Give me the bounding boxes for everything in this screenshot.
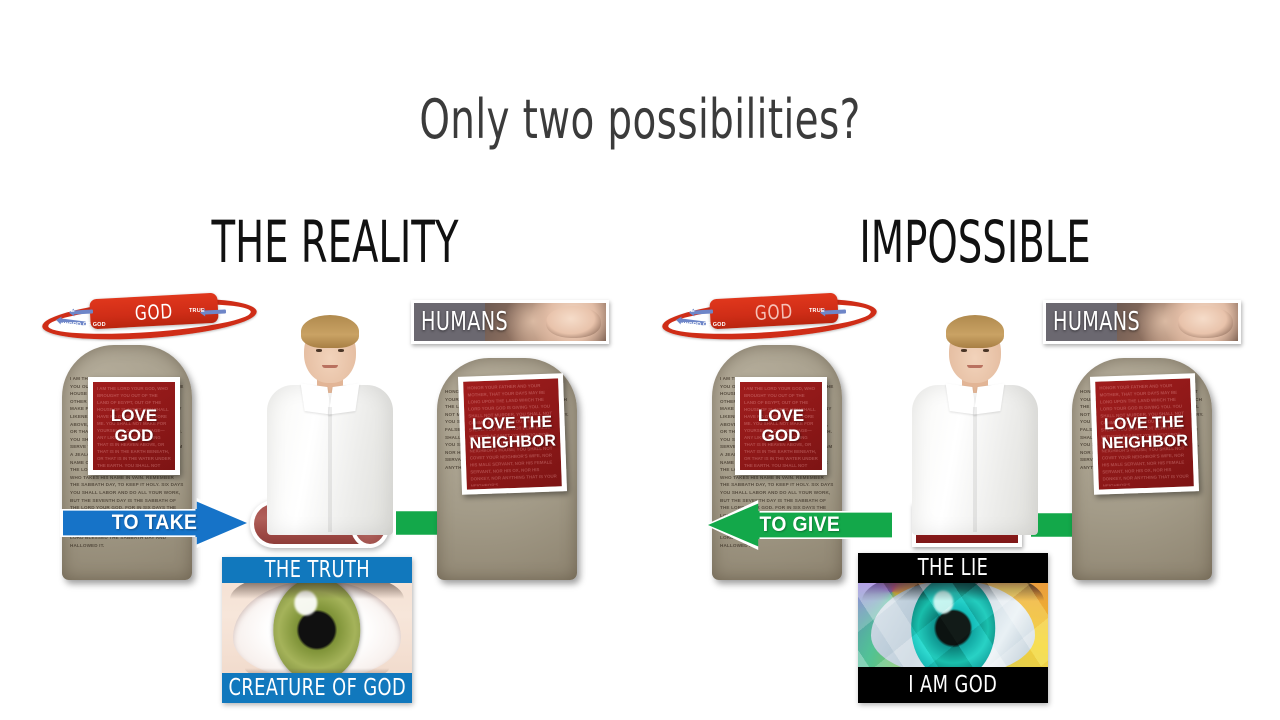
mouth (967, 365, 983, 368)
card-label: LOVE THE NEIGHBOR (463, 378, 562, 489)
collar-left (301, 383, 332, 414)
eye-card-top-bar: THE LIE (858, 553, 1048, 583)
humans-label: HUMANS (421, 307, 508, 337)
person-eye-left (961, 349, 967, 352)
collar-right (974, 383, 1005, 414)
humans-banner-reality: HUMANS (411, 300, 609, 344)
collar-left (946, 383, 977, 414)
halo-tag-love: LOVE (59, 308, 75, 314)
card-label: LOVE THE NEIGHBOR (1095, 378, 1194, 489)
eye-card-bottom-bar: I AM GOD (858, 667, 1048, 703)
person-eye-right (338, 349, 344, 352)
person-photo-impossible (895, 315, 1055, 540)
card-label-line1: LOVE (111, 406, 157, 425)
card-label-line2: GOD (115, 426, 154, 445)
panel-impossible: IMPOSSIBLE GOD WORD OF GOD LOVE TRUE I A… (640, 0, 1280, 720)
humans-banner-impossible: HUMANS (1043, 300, 1241, 344)
arrow-to-give-left-label: TO GIVE (760, 513, 841, 537)
eye-card-bottom-bar: CREATURE OF GOD (222, 673, 412, 703)
person-photo-reality (250, 315, 410, 540)
hair (301, 315, 359, 348)
card-label-line2: GOD (762, 426, 801, 445)
shirt-placket (328, 407, 332, 532)
mouth (322, 365, 338, 368)
eye-card-truth: THE TRUTH CREATURE OF GOD (222, 557, 412, 703)
person-eye-right (983, 349, 989, 352)
god-halo-impossible: GOD WORD OF GOD LOVE TRUE (662, 296, 877, 342)
card-love-neighbor: HONOR YOUR FATHER AND YOUR MOTHER, THAT … (1090, 373, 1199, 495)
eye-card-bottom-label: CREATURE OF GOD (228, 675, 406, 701)
card-label-line2: NEIGHBOR (1101, 432, 1188, 452)
card-label: LOVE GOD (93, 382, 175, 470)
halo-tag-love: LOVE (679, 308, 695, 314)
panel-heading-impossible: IMPOSSIBLE (812, 208, 1138, 276)
humans-label: HUMANS (1053, 307, 1140, 337)
halo-tag-word-of-god: WORD OF GOD (683, 322, 726, 328)
halo-tag-word-of-god: WORD OF GOD (63, 322, 106, 328)
card-love-god: I AM THE LORD YOUR GOD, WHO BROUGHT YOU … (735, 377, 827, 475)
eye-card-top-label: THE LIE (918, 555, 989, 581)
panel-reality: THE REALITY GOD WORD OF GOD LOVE TRUE I … (0, 0, 640, 720)
shirt-placket (973, 407, 977, 532)
card-label-line2: NEIGHBOR (469, 432, 556, 452)
arrow-to-take-label: TO TAKE (112, 511, 198, 535)
card-love-god: I AM THE LORD YOUR GOD, WHO BROUGHT YOU … (88, 377, 180, 475)
collar-right (329, 383, 360, 414)
hair (946, 315, 1004, 348)
slide-canvas: Only two possibilities? THE REALITY GOD … (0, 0, 1280, 720)
card-love-neighbor: HONOR YOUR FATHER AND YOUR MOTHER, THAT … (458, 373, 567, 495)
halo-tag-true: TRUE (189, 308, 205, 314)
eye-card-top-bar: THE TRUTH (222, 557, 412, 583)
halo-tag-true: TRUE (809, 308, 825, 314)
card-label-line1: LOVE THE (472, 414, 553, 434)
eye-card-bottom-label: I AM GOD (908, 672, 997, 698)
eye-card-top-label: THE TRUTH (264, 557, 370, 583)
panel-heading-reality: THE REALITY (172, 208, 498, 276)
eye-card-lie: THE LIE I AM GOD (858, 553, 1048, 703)
person-eye-left (316, 349, 322, 352)
card-label-line1: LOVE (758, 406, 804, 425)
card-label-line1: LOVE THE (1104, 414, 1185, 434)
card-label: LOVE GOD (740, 382, 822, 470)
god-halo-reality: GOD WORD OF GOD LOVE TRUE (42, 296, 257, 342)
